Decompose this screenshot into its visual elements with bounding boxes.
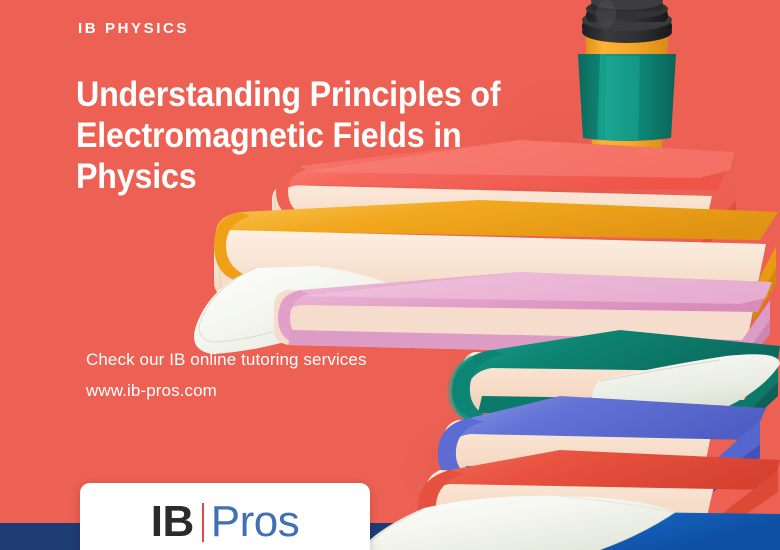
logo-text-ib: IB <box>151 497 194 547</box>
logo-divider-icon <box>202 503 204 542</box>
brand-logo-card[interactable]: IB Pros <box>80 483 370 550</box>
cta-line-website[interactable]: www.ib-pros.com <box>86 375 367 406</box>
kicker-label: IB PHYSICS <box>78 20 189 37</box>
loose-page-upper <box>194 266 410 354</box>
logo-text-pros: Pros <box>211 497 299 547</box>
poster-canvas: IB PHYSICS Understanding Principles of E… <box>0 0 780 550</box>
loose-page-right <box>592 354 780 428</box>
book-orange <box>214 200 778 322</box>
book-periwinkle <box>438 396 766 500</box>
page-title: Understanding Principles of Electromagne… <box>76 74 508 197</box>
book-teal <box>450 330 780 428</box>
cta-line-services: Check our IB online tutoring services <box>86 344 367 375</box>
brand-logo: IB Pros <box>151 497 299 547</box>
coffee-cup-graphic <box>578 0 676 167</box>
cta-block: Check our IB online tutoring services ww… <box>86 344 367 406</box>
